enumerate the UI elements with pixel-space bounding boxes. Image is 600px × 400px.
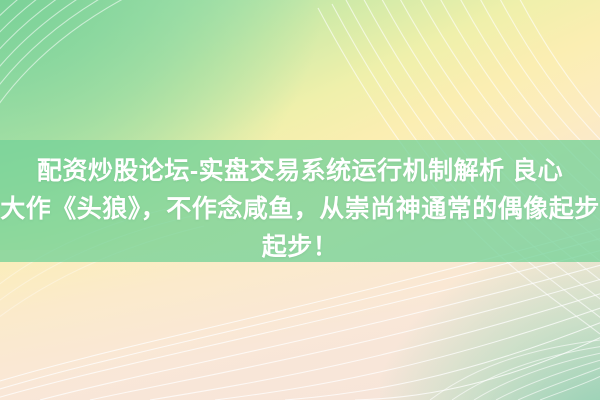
headline-line-2: 大作《头狼》，不作念咸鱼，从崇尚神通常的偶像起步 <box>0 190 600 228</box>
headline-line-1: 配资炒股论坛-实盘交易系统运行机制解析 良心 <box>0 152 600 190</box>
headline-line-3: 起步！ <box>0 228 600 266</box>
page-title: 配资炒股论坛-实盘交易系统运行机制解析 良心 大作《头狼》，不作念咸鱼，从崇尚神… <box>0 152 600 266</box>
banner-image: 配资炒股论坛-实盘交易系统运行机制解析 良心 大作《头狼》，不作念咸鱼，从崇尚神… <box>0 0 600 400</box>
